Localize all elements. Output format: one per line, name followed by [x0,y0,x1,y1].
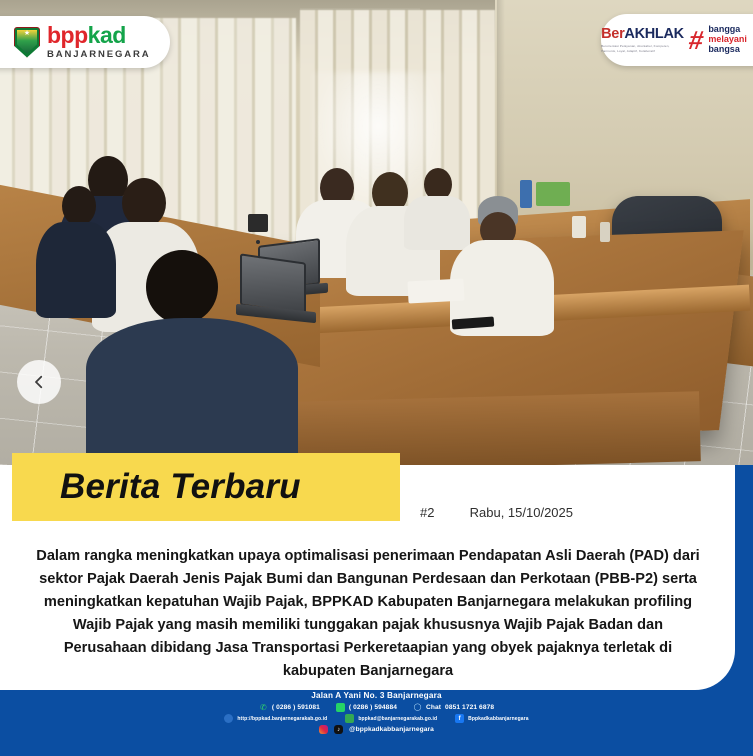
footer-web-row: http://bppkad.banjarnegarakab.go.id bppk… [0,714,753,723]
footer-phone-2-value: ( 0286 ) 594884 [349,704,397,711]
document-papers [407,279,464,304]
bppkad-logo: ★ bppkad BANJARNEGARA [0,16,170,68]
berakhlak-prefix: Ber [601,26,624,42]
chat-bubble-icon: ◯ [413,703,422,712]
meeting-room-photo [0,0,753,465]
footer-phone-1-value: ( 0286 ) 591081 [272,704,320,711]
news-photo: ★ bppkad BANJARNEGARA BerAKHLAK Berorien… [0,0,753,465]
berakhlak-text-block: BerAKHLAK Berorientasi Pelayanan, Akunta… [601,26,684,53]
chevron-left-icon [30,373,48,391]
phone-icon: ✆ [259,703,268,712]
hashtag-icon: # [687,27,706,53]
bottle [600,222,610,242]
bangga-melayani-bangsa: bangga melayani bangsa [708,25,747,54]
headline-title: Berita Terbaru [60,467,301,507]
tissue-box [572,216,586,238]
footer-social-row: ♪ @bppkadkabbanjarnegara [0,725,753,734]
logo-subtitle: BANJARNEGARA [47,50,151,60]
article-number: #2 [420,505,434,520]
footer-facebook[interactable]: f Bppkadkabbanjarnegara [455,714,528,723]
footer-chat-label: Chat [426,704,441,711]
bangga-line-3: bangsa [708,45,747,55]
footer-social-handle: @bppkadkabbanjarnegara [349,726,434,733]
footer-email[interactable]: bppkad@banjarnegarakab.go.id [345,714,437,723]
folder-green [536,182,570,206]
footer-whatsapp-number: 0851 1721 6878 [445,704,494,711]
whatsapp-icon [336,703,345,712]
coffee-cup [248,214,268,232]
footer-website-value: http://bppkad.banjarnegarakab.go.id [237,716,327,722]
instagram-icon[interactable] [319,725,328,734]
logo-word-red: bpp [47,22,88,48]
facebook-icon: f [455,714,464,723]
banjarnegara-crest-icon: ★ [14,27,40,58]
footer-social-handle-value: @bppkadkabbanjarnegara [349,726,434,733]
footer-phone-1: ✆ ( 0286 ) 591081 [259,703,320,712]
mail-icon [345,714,354,723]
article-body: Dalam rangka meningkatkan upaya optimali… [34,545,702,683]
logo-word-green: kad [88,22,126,48]
poster-footer: Jalan A Yani No. 3 Banjarnegara ✆ ( 0286… [0,690,753,756]
berakhlak-suffix: AKHLAK [624,26,683,42]
footer-address: Jalan A Yani No. 3 Banjarnegara [0,691,753,700]
article-date: Rabu, 15/10/2025 [470,505,573,520]
footer-website[interactable]: http://bppkad.banjarnegarakab.go.id [224,714,327,723]
headline-banner: Berita Terbaru [12,453,400,521]
footer-contact-row: ✆ ( 0286 ) 591081 ( 0286 ) 594884 ◯ Chat… [0,703,753,712]
footer-phone-2: ( 0286 ) 594884 [336,703,397,712]
globe-icon [224,714,233,723]
folder-blue [520,180,532,208]
logo-word: bppkad [47,24,151,47]
footer-chat: ◯ Chat 0851 1721 6878 [413,703,494,712]
berakhlak-badge: BerAKHLAK Berorientasi Pelayanan, Akunta… [601,14,753,66]
footer-email-value: bppkad@banjarnegarakab.go.id [358,716,437,722]
berakhlak-tagline: Berorientasi Pelayanan, Akuntabel, Kompe… [601,44,679,53]
tiktok-icon[interactable]: ♪ [334,725,343,734]
news-poster-card: ★ bppkad BANJARNEGARA BerAKHLAK Berorien… [0,0,753,756]
carousel-prev-button[interactable] [17,360,61,404]
logo-wordmark: bppkad BANJARNEGARA [47,24,151,60]
laptop-spacer [256,240,260,244]
footer-facebook-value: Bppkadkabbanjarnegara [468,716,528,722]
berakhlak-word: BerAKHLAK [601,26,684,42]
